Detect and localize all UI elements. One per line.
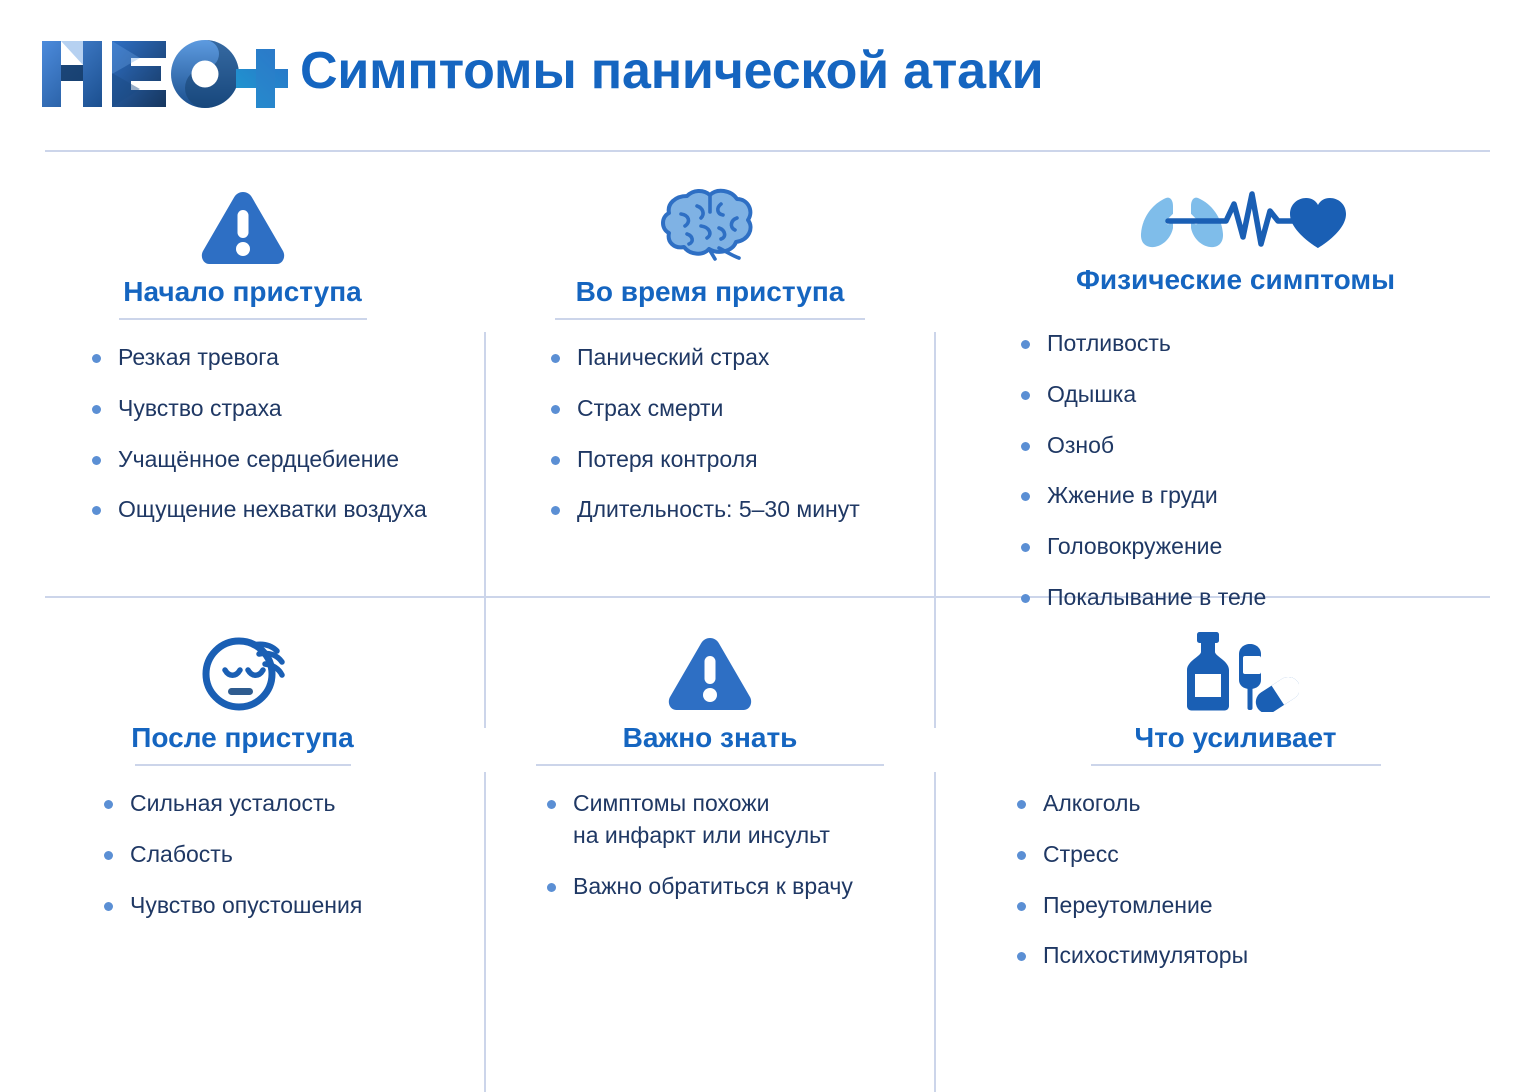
list-item: Резкая тревога <box>88 342 427 374</box>
heading-underline <box>536 764 884 766</box>
list-item: Страх смерти <box>547 393 860 425</box>
list-item: Важно обратиться к врачу <box>543 871 853 903</box>
brain-icon <box>657 180 763 266</box>
list-item: Учащённое сердцебиение <box>88 444 427 476</box>
symptom-list: Симптомы похожи на инфаркт или инсульт В… <box>543 788 853 921</box>
heading-underline <box>135 764 351 766</box>
bottle-pills-icon <box>1173 626 1299 712</box>
section-what-aggravates: Что усиливает Алкоголь Стресс Переутомле… <box>935 598 1536 1024</box>
list-item: Потеря контроля <box>547 444 860 476</box>
list-item: Сильная усталость <box>100 788 362 820</box>
heading-underline <box>555 318 865 320</box>
warning-triangle-icon <box>667 626 753 712</box>
list-item: Чувство страха <box>88 393 427 425</box>
list-item: Озноб <box>1017 430 1266 462</box>
section-heading: Что усиливает <box>1135 722 1337 764</box>
symptom-list: Резкая тревога Чувство страха Учащённое … <box>88 342 427 545</box>
section-heading: Физические симптомы <box>1076 264 1395 306</box>
list-item: Переутомление <box>1013 890 1248 922</box>
symptom-list: Сильная усталость Слабость Чувство опуст… <box>100 788 362 940</box>
list-item: Психостимуляторы <box>1013 940 1248 972</box>
section-heading: Важно знать <box>623 722 798 764</box>
list-item: Стресс <box>1013 839 1248 871</box>
list-item: Симптомы похожи на инфаркт или инсульт <box>543 788 853 851</box>
sections-row-top: Начало приступа Резкая тревога Чувство с… <box>0 152 1536 596</box>
lungs-heartbeat-heart-icon <box>1122 180 1350 254</box>
heading-underline <box>119 318 367 320</box>
section-heading: Начало приступа <box>123 276 362 318</box>
section-after-attack: После приступа Сильная усталость Слабост… <box>0 598 485 1024</box>
section-attack-onset: Начало приступа Резкая тревога Чувство с… <box>0 152 485 596</box>
warning-triangle-icon <box>200 180 286 266</box>
list-item: Панический страх <box>547 342 860 374</box>
neo-plus-logo <box>40 35 288 113</box>
section-physical-symptoms: Физические симптомы Потливость Одышка Оз… <box>935 152 1536 596</box>
section-heading: После приступа <box>131 722 353 764</box>
symptom-list: Панический страх Страх смерти Потеря кон… <box>547 342 860 545</box>
page-header: Симптомы панической атаки <box>0 0 1536 148</box>
symptom-list: Алкоголь Стресс Переутомление Психостиму… <box>1013 788 1248 991</box>
section-during-attack: Во время приступа Панический страх Страх… <box>485 152 935 596</box>
page-title: Симптомы панической атаки <box>300 45 1043 103</box>
list-item: Одышка <box>1017 379 1266 411</box>
heading-underline <box>1091 764 1381 766</box>
infographic-page: Симптомы панической атаки Начало приступ… <box>0 0 1536 1024</box>
list-item: Ощущение нехватки воздуха <box>88 494 427 526</box>
sections-row-bottom: После приступа Сильная усталость Слабост… <box>0 598 1536 1024</box>
list-item: Слабость <box>100 839 362 871</box>
section-heading: Во время приступа <box>576 276 845 318</box>
list-item: Чувство опустошения <box>100 890 362 922</box>
list-item: Алкоголь <box>1013 788 1248 820</box>
list-item: Жжение в груди <box>1017 480 1266 512</box>
list-item: Потливость <box>1017 328 1266 360</box>
sections-grid: Начало приступа Резкая тревога Чувство с… <box>0 152 1536 1024</box>
section-important-to-know: Важно знать Симптомы похожи на инфаркт и… <box>485 598 935 1024</box>
list-item: Головокружение <box>1017 531 1266 563</box>
list-item: Длительность: 5–30 минут <box>547 494 860 526</box>
sad-face-icon <box>195 626 291 712</box>
symptom-list: Потливость Одышка Озноб Жжение в груди Г… <box>1017 328 1266 632</box>
